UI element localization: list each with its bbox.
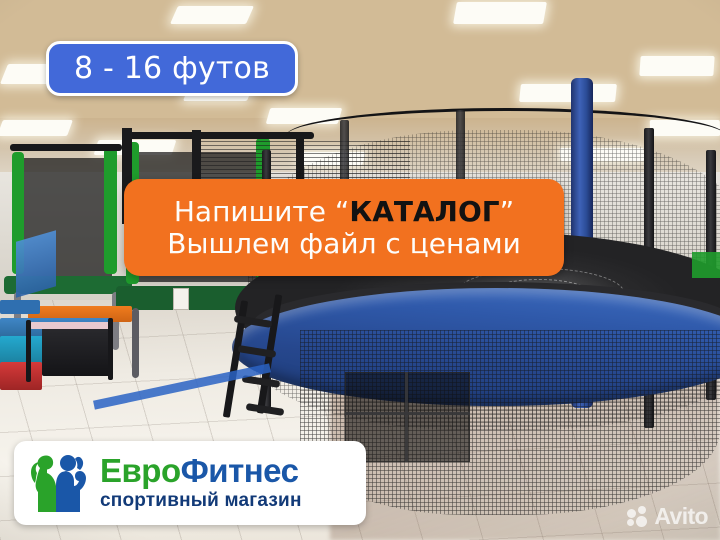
size-range-badge: 8 - 16 футов <box>46 41 298 96</box>
store-tagline: спортивный магазин <box>100 490 302 512</box>
fitness-couple-icon <box>28 452 94 514</box>
catalog-cta-banner[interactable]: Напишите “КАТАЛОГ” Вышлем файл с ценами <box>124 179 564 276</box>
catalog-cta-line2: Вышлем файл с ценами <box>167 228 521 259</box>
cta-keyword: КАТАЛОГ <box>349 195 499 228</box>
store-logo-text: ЕвроФитнес спортивный магазин <box>100 454 302 512</box>
cta-prefix: Напишите “ <box>174 195 349 228</box>
advertisement-image: 8 - 16 футов Напишите “КАТАЛОГ” Вышлем ф… <box>0 0 720 540</box>
store-name: ЕвроФитнес <box>100 454 302 487</box>
store-logo: ЕвроФитнес спортивный магазин <box>14 441 366 525</box>
store-name-part1: Евро <box>100 452 181 489</box>
avito-wordmark: Avito <box>654 503 708 530</box>
catalog-cta-line1: Напишите “КАТАЛОГ” <box>174 196 514 227</box>
size-range-label: 8 - 16 футов <box>74 51 270 86</box>
cta-suffix: ” <box>500 195 515 228</box>
store-name-part2: Фитнес <box>181 452 299 489</box>
avito-watermark: Avito <box>627 503 708 530</box>
avito-dots-icon <box>627 506 649 528</box>
